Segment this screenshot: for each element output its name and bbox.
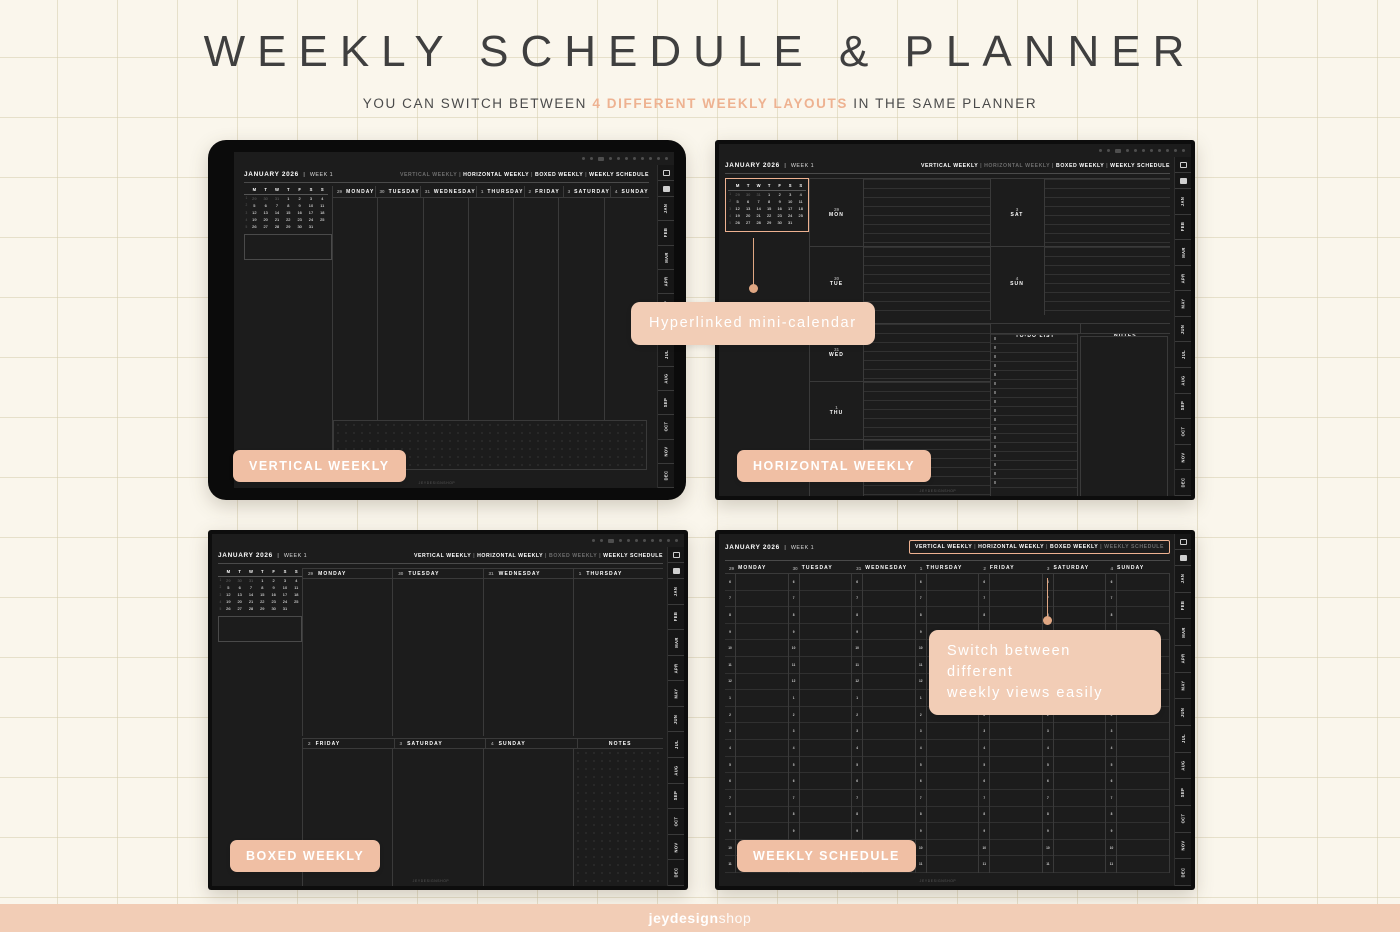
toolbar-dot-icon[interactable] xyxy=(619,539,622,542)
tab-boxed-weekly[interactable]: BOXED WEEKLY xyxy=(549,553,597,559)
time-slot-row[interactable] xyxy=(927,591,979,608)
rail-month-mar[interactable]: MAR xyxy=(1175,240,1191,266)
time-slot-row[interactable] xyxy=(863,657,915,674)
month-rail[interactable]: JAN FEB MAR APR MAY JUN JUL AUG SEP OCT … xyxy=(1174,534,1191,886)
tab-weekly-schedule[interactable]: WEEKLY SCHEDULE xyxy=(589,172,649,178)
rail-home-tab[interactable] xyxy=(1175,157,1191,173)
rail-month-jul[interactable]: JUL xyxy=(658,343,674,367)
layout-tabs[interactable]: VERTICAL WEEKLY | HORIZONTAL WEEKLY | BO… xyxy=(400,172,649,178)
toolbar-dot-icon[interactable] xyxy=(582,157,585,160)
toolbar-dot-icon[interactable] xyxy=(1182,149,1185,152)
rail-month-aug[interactable]: AUG xyxy=(658,367,674,391)
schedule-day-column[interactable]: 67891011121234567891011 xyxy=(1106,574,1170,873)
day-box[interactable] xyxy=(393,579,483,736)
tab-weekly-schedule[interactable]: WEEKLY SCHEDULE xyxy=(1110,163,1170,169)
toolbar-shape-icon[interactable] xyxy=(625,157,628,160)
mini-calendar[interactable]: MT WT FS S 1 2930 311 23 4 2 56 xyxy=(218,568,302,613)
time-slot-row[interactable] xyxy=(800,624,852,641)
time-slot-row[interactable] xyxy=(1054,773,1106,790)
toolbar-dot-icon[interactable] xyxy=(1166,149,1169,152)
rail-month-mar[interactable]: MAR xyxy=(668,630,684,656)
toolbar-dot-icon[interactable] xyxy=(633,157,636,160)
time-slot-row[interactable] xyxy=(927,773,979,790)
rail-month-jan[interactable]: JAN xyxy=(1175,189,1191,215)
rail-month-nov[interactable]: NOV xyxy=(658,440,674,464)
schedule-day-column[interactable]: 67891011121234567891011 xyxy=(852,574,916,873)
time-slot-row[interactable] xyxy=(863,624,915,641)
time-slot-row[interactable] xyxy=(1054,757,1106,774)
time-slot-row[interactable] xyxy=(863,773,915,790)
mini-calendar-week-row[interactable]: 2 56 78 910 11 xyxy=(244,202,328,209)
time-slot-row[interactable] xyxy=(800,657,852,674)
day-column-header[interactable]: 30 TUESDAY xyxy=(393,569,483,578)
rail-month-apr[interactable]: APR xyxy=(1175,266,1191,292)
mini-calendar-week-row[interactable]: 3 1213 1415 1617 18 xyxy=(728,205,806,212)
day-column-header[interactable]: 30 TUESDAY xyxy=(376,186,421,197)
schedule-write-area[interactable] xyxy=(736,574,788,873)
rail-month-jan[interactable]: JAN xyxy=(668,579,684,605)
time-slot-row[interactable] xyxy=(1054,823,1106,840)
time-slot-row[interactable] xyxy=(736,657,788,674)
time-slot-row[interactable] xyxy=(1117,807,1169,824)
time-slot-row[interactable] xyxy=(800,574,852,591)
time-slot-row[interactable] xyxy=(863,640,915,657)
time-slot-row[interactable] xyxy=(800,740,852,757)
time-slot-row[interactable] xyxy=(990,840,1042,857)
tab-horizontal-weekly[interactable]: HORIZONTAL WEEKLY xyxy=(463,172,529,178)
time-slot-row[interactable] xyxy=(863,723,915,740)
day-column-header[interactable]: 31 WEDNESDAY xyxy=(484,569,574,578)
schedule-day-column[interactable]: 67891011121234567891011 xyxy=(979,574,1043,873)
day-column-header[interactable]: 29 MONDAY xyxy=(725,563,789,573)
day-column-header[interactable]: 2 FRIDAY xyxy=(525,186,564,197)
day-cell[interactable] xyxy=(514,198,559,420)
time-slot-row[interactable] xyxy=(736,807,788,824)
rail-month-jun[interactable]: JUN xyxy=(1175,699,1191,726)
rail-notes-tab[interactable] xyxy=(668,563,684,579)
todo-checkbox[interactable] xyxy=(994,382,997,385)
rail-month-dec[interactable]: DEC xyxy=(658,464,674,488)
day-column-header[interactable]: 4 SUNDAY xyxy=(1106,563,1170,573)
toolbar-dot-icon[interactable] xyxy=(643,539,646,542)
rail-month-jun[interactable]: JUN xyxy=(1175,317,1191,343)
time-slot-row[interactable] xyxy=(927,840,979,857)
day-column-header[interactable]: 3 SATURDAY xyxy=(395,739,487,748)
todo-checkbox[interactable] xyxy=(994,445,997,448)
day-write-area[interactable] xyxy=(1045,247,1171,315)
time-slot-row[interactable] xyxy=(1117,607,1169,624)
rail-home-tab[interactable] xyxy=(668,547,684,563)
time-slot-row[interactable] xyxy=(800,690,852,707)
rail-month-mar[interactable]: MAR xyxy=(1175,619,1191,646)
tab-boxed-weekly[interactable]: BOXED WEEKLY xyxy=(1056,163,1104,169)
time-slot-row[interactable] xyxy=(1054,856,1106,873)
toolbar-dot-icon[interactable] xyxy=(590,157,593,160)
tab-vertical-weekly[interactable]: VERTICAL WEEKLY xyxy=(921,163,978,169)
todo-checkbox[interactable] xyxy=(994,427,997,430)
day-column-header[interactable]: 29 MONDAY xyxy=(303,569,393,578)
day-row[interactable]: 1 THU xyxy=(810,382,990,440)
time-slot-row[interactable] xyxy=(1117,740,1169,757)
time-slot-row[interactable] xyxy=(927,807,979,824)
time-slot-row[interactable] xyxy=(990,823,1042,840)
time-slot-row[interactable] xyxy=(1054,723,1106,740)
day-write-area[interactable] xyxy=(864,247,990,315)
time-slot-row[interactable] xyxy=(863,823,915,840)
mini-calendar[interactable]: MT WT FS S 1 2930 311 23 4 2 56 xyxy=(244,186,328,231)
time-slot-row[interactable] xyxy=(800,707,852,724)
tab-boxed-weekly[interactable]: BOXED WEEKLY xyxy=(535,172,583,178)
todo-checkbox[interactable] xyxy=(994,391,997,394)
schedule-day-column[interactable]: 67891011121234567891011 xyxy=(789,574,853,873)
time-slot-row[interactable] xyxy=(863,807,915,824)
time-slot-row[interactable] xyxy=(990,574,1042,591)
time-slot-row[interactable] xyxy=(736,624,788,641)
time-slot-row[interactable] xyxy=(990,856,1042,873)
toolbar-dot-icon[interactable] xyxy=(592,539,595,542)
time-slot-row[interactable] xyxy=(800,723,852,740)
rail-month-feb[interactable]: FEB xyxy=(658,221,674,245)
time-slot-row[interactable] xyxy=(863,574,915,591)
time-slot-row[interactable] xyxy=(863,790,915,807)
time-slot-row[interactable] xyxy=(990,591,1042,608)
time-slot-row[interactable] xyxy=(863,690,915,707)
time-slot-row[interactable] xyxy=(800,674,852,691)
time-slot-row[interactable] xyxy=(800,773,852,790)
time-slot-row[interactable] xyxy=(1117,773,1169,790)
tab-vertical-weekly[interactable]: VERTICAL WEEKLY xyxy=(414,553,471,559)
time-slot-row[interactable] xyxy=(927,823,979,840)
tab-weekly-schedule[interactable]: WEEKLY SCHEDULE xyxy=(1104,544,1164,550)
rail-month-feb[interactable]: FEB xyxy=(1175,593,1191,620)
day-column-header[interactable]: 2 FRIDAY xyxy=(303,739,395,748)
rail-month-apr[interactable]: APR xyxy=(658,270,674,294)
rail-home-tab[interactable] xyxy=(658,165,674,181)
day-column-header[interactable]: 4 SUNDAY xyxy=(486,739,578,748)
schedule-write-area[interactable] xyxy=(863,574,915,873)
day-column-header[interactable]: 31 WEDNESDAY xyxy=(852,563,916,573)
day-write-area[interactable] xyxy=(864,179,990,246)
rail-month-jul[interactable]: JUL xyxy=(1175,726,1191,753)
schedule-day-column[interactable]: 67891011121234567891011 xyxy=(1043,574,1107,873)
todo-checkbox[interactable] xyxy=(994,472,997,475)
mini-notes-box[interactable] xyxy=(218,616,302,642)
toolbar-dot-icon[interactable] xyxy=(1150,149,1153,152)
time-slot-row[interactable] xyxy=(927,574,979,591)
rail-month-jul[interactable]: JUL xyxy=(668,732,684,758)
time-slot-row[interactable] xyxy=(800,823,852,840)
time-slot-row[interactable] xyxy=(863,674,915,691)
toolbar-shape-icon[interactable] xyxy=(1134,149,1137,152)
todo-checkbox[interactable] xyxy=(994,436,997,439)
rail-month-dec[interactable]: DEC xyxy=(1175,859,1191,886)
toolbar-shape-icon[interactable] xyxy=(635,539,638,542)
time-slot-row[interactable] xyxy=(863,757,915,774)
app-toolbar[interactable] xyxy=(719,144,1191,157)
day-cell[interactable] xyxy=(333,198,378,420)
layout-tabs-highlighted[interactable]: VERTICAL WEEKLY | HORIZONTAL WEEKLY | BO… xyxy=(909,540,1170,554)
day-write-area[interactable] xyxy=(1045,179,1171,246)
schedule-write-area[interactable] xyxy=(800,574,852,873)
mini-calendar-week-row[interactable]: 3 1213 1415 1617 18 xyxy=(218,591,302,598)
time-slot-row[interactable] xyxy=(1054,790,1106,807)
toolbar-page-icon[interactable] xyxy=(1115,149,1121,153)
todo-checkbox[interactable] xyxy=(994,400,997,403)
rail-notes-tab[interactable] xyxy=(1175,550,1191,566)
time-slot-row[interactable] xyxy=(927,607,979,624)
todo-checkbox[interactable] xyxy=(994,364,997,367)
rail-month-oct[interactable]: OCT xyxy=(658,415,674,439)
toolbar-shape-icon[interactable] xyxy=(1142,149,1145,152)
toolbar-dot-icon[interactable] xyxy=(649,157,652,160)
rail-month-may[interactable]: MAY xyxy=(1175,673,1191,700)
day-row[interactable]: 29 MON xyxy=(810,179,990,247)
toolbar-dot-icon[interactable] xyxy=(667,539,670,542)
toolbar-dot-icon[interactable] xyxy=(665,157,668,160)
time-slot-row[interactable] xyxy=(1117,723,1169,740)
boxed-top-cells[interactable] xyxy=(303,579,663,736)
rail-notes-tab[interactable] xyxy=(658,181,674,197)
app-toolbar[interactable] xyxy=(212,534,684,547)
time-slot-row[interactable] xyxy=(800,640,852,657)
day-column-header[interactable]: 1 THURSDAY xyxy=(574,569,663,578)
time-slot-row[interactable] xyxy=(1117,856,1169,873)
rail-month-sep[interactable]: SEP xyxy=(668,784,684,810)
toolbar-page-icon[interactable] xyxy=(608,539,614,543)
time-slot-row[interactable] xyxy=(800,757,852,774)
time-slot-row[interactable] xyxy=(990,773,1042,790)
time-slot-row[interactable] xyxy=(1117,574,1169,591)
layout-tabs[interactable]: VERTICAL WEEKLY | HORIZONTAL WEEKLY | BO… xyxy=(414,553,663,559)
time-slot-row[interactable] xyxy=(990,757,1042,774)
schedule-grid[interactable]: 6789101112123456789101167891011121234567… xyxy=(725,573,1170,873)
rail-month-oct[interactable]: OCT xyxy=(1175,806,1191,833)
rail-month-may[interactable]: MAY xyxy=(1175,291,1191,317)
day-column-header[interactable]: 2 FRIDAY xyxy=(979,563,1043,573)
mini-calendar[interactable]: MT WT FS S 1 2930 311 23 4 2 56 xyxy=(725,178,809,232)
time-slot-row[interactable] xyxy=(736,723,788,740)
rail-month-jun[interactable]: JUN xyxy=(668,707,684,733)
tab-boxed-weekly[interactable]: BOXED WEEKLY xyxy=(1050,544,1098,550)
toolbar-dot-icon[interactable] xyxy=(651,539,654,542)
day-cell[interactable] xyxy=(559,198,604,420)
rail-month-oct[interactable]: OCT xyxy=(668,809,684,835)
time-slot-row[interactable] xyxy=(863,740,915,757)
schedule-day-column[interactable]: 67891011121234567891011 xyxy=(916,574,980,873)
time-slot-row[interactable] xyxy=(1054,591,1106,608)
time-slot-row[interactable] xyxy=(736,707,788,724)
day-column-header[interactable]: 4 SUNDAY xyxy=(611,186,649,197)
mini-calendar-week-row[interactable]: 2 56 78 910 11 xyxy=(218,584,302,591)
mini-calendar-week-row[interactable]: 1 2930 311 23 4 xyxy=(218,576,302,584)
time-slot-row[interactable] xyxy=(1117,823,1169,840)
time-slot-row[interactable] xyxy=(1117,790,1169,807)
day-column-header[interactable]: 30 TUESDAY xyxy=(789,563,853,573)
toolbar-dot-icon[interactable] xyxy=(600,539,603,542)
time-slot-row[interactable] xyxy=(863,707,915,724)
notes-area[interactable] xyxy=(1080,336,1168,496)
day-cell[interactable] xyxy=(378,198,423,420)
day-cell[interactable] xyxy=(424,198,469,420)
time-slot-row[interactable] xyxy=(1054,840,1106,857)
tab-vertical-weekly[interactable]: VERTICAL WEEKLY xyxy=(400,172,457,178)
mini-calendar-week-row[interactable]: 4 1920 2122 2324 25 xyxy=(728,212,806,219)
tab-horizontal-weekly[interactable]: HORIZONTAL WEEKLY xyxy=(978,544,1044,550)
day-box[interactable] xyxy=(303,579,393,736)
toolbar-shape-icon[interactable] xyxy=(627,539,630,542)
mini-calendar-week-row[interactable]: 5 2627 2829 3031 xyxy=(218,605,302,612)
time-slot-row[interactable] xyxy=(736,591,788,608)
rail-month-aug[interactable]: AUG xyxy=(668,758,684,784)
todo-list-rows[interactable] xyxy=(991,334,1078,496)
rail-month-feb[interactable]: FEB xyxy=(1175,215,1191,241)
time-slot-row[interactable] xyxy=(863,607,915,624)
day-column-header[interactable]: 3 SATURDAY xyxy=(1043,563,1107,573)
todo-checkbox[interactable] xyxy=(994,454,997,457)
time-slot-row[interactable] xyxy=(990,740,1042,757)
tab-horizontal-weekly[interactable]: HORIZONTAL WEEKLY xyxy=(984,163,1050,169)
time-slot-row[interactable] xyxy=(736,574,788,591)
time-slot-row[interactable] xyxy=(736,790,788,807)
time-slot-row[interactable] xyxy=(736,607,788,624)
todo-checkbox[interactable] xyxy=(994,418,997,421)
mini-calendar-week-row[interactable]: 5 2627 2829 3031 xyxy=(728,219,806,226)
time-slot-row[interactable] xyxy=(736,773,788,790)
notes-dot-grid[interactable] xyxy=(574,749,663,886)
time-slot-row[interactable] xyxy=(927,757,979,774)
rail-month-jan[interactable]: JAN xyxy=(1175,566,1191,593)
time-slot-row[interactable] xyxy=(1054,574,1106,591)
day-write-area[interactable] xyxy=(864,382,990,439)
mini-calendar-week-row[interactable]: 2 56 78 910 11 xyxy=(728,198,806,205)
toolbar-dot-icon[interactable] xyxy=(609,157,612,160)
rail-month-sep[interactable]: SEP xyxy=(1175,394,1191,420)
app-toolbar[interactable] xyxy=(234,152,674,165)
time-slot-row[interactable] xyxy=(1054,807,1106,824)
time-slot-row[interactable] xyxy=(927,740,979,757)
day-write-area[interactable] xyxy=(864,324,990,381)
time-slot-row[interactable] xyxy=(927,856,979,873)
mini-calendar-week-row[interactable]: 4 1920 2122 2324 25 xyxy=(218,598,302,605)
todo-checkbox[interactable] xyxy=(994,481,997,484)
toolbar-dot-icon[interactable] xyxy=(657,157,660,160)
time-slot-row[interactable] xyxy=(1117,840,1169,857)
time-slot-row[interactable] xyxy=(863,591,915,608)
rail-month-nov[interactable]: NOV xyxy=(1175,833,1191,860)
day-box[interactable] xyxy=(393,749,483,886)
time-slot-row[interactable] xyxy=(736,823,788,840)
day-cell[interactable] xyxy=(469,198,514,420)
toolbar-dot-icon[interactable] xyxy=(675,539,678,542)
time-slot-row[interactable] xyxy=(736,690,788,707)
rail-month-nov[interactable]: NOV xyxy=(1175,445,1191,471)
rail-month-oct[interactable]: OCT xyxy=(1175,419,1191,445)
toolbar-dot-icon[interactable] xyxy=(1107,149,1110,152)
time-slot-row[interactable] xyxy=(736,674,788,691)
time-slot-row[interactable] xyxy=(800,807,852,824)
day-column-header[interactable]: 31 WEDNESDAY xyxy=(421,186,477,197)
toolbar-dot-icon[interactable] xyxy=(1158,149,1161,152)
todo-checkbox[interactable] xyxy=(994,463,997,466)
time-slot-row[interactable] xyxy=(990,807,1042,824)
time-slot-row[interactable] xyxy=(990,723,1042,740)
mini-calendar-week-row[interactable]: 3 1213 1415 1617 18 xyxy=(244,209,328,216)
toolbar-dot-icon[interactable] xyxy=(1174,149,1177,152)
rail-month-dec[interactable]: DEC xyxy=(1175,470,1191,496)
todo-checkbox[interactable] xyxy=(994,373,997,376)
day-row[interactable]: 4 SUN xyxy=(991,247,1171,315)
tab-horizontal-weekly[interactable]: HORIZONTAL WEEKLY xyxy=(477,553,543,559)
time-slot-row[interactable] xyxy=(736,640,788,657)
toolbar-shape-icon[interactable] xyxy=(617,157,620,160)
rail-month-jan[interactable]: JAN xyxy=(658,197,674,221)
toolbar-page-icon[interactable] xyxy=(598,157,604,161)
toolbar-dot-icon[interactable] xyxy=(1099,149,1102,152)
mini-calendar-week-row[interactable]: 1 2930 311 23 4 xyxy=(244,194,328,202)
day-box[interactable] xyxy=(574,579,663,736)
time-slot-row[interactable] xyxy=(800,790,852,807)
time-slot-row[interactable] xyxy=(990,790,1042,807)
mini-calendar-week-row[interactable]: 5 2627 2829 3031 xyxy=(244,223,328,230)
time-slot-row[interactable] xyxy=(800,591,852,608)
month-rail[interactable]: JAN FEB MAR APR MAY JUN JUL AUG SEP OCT … xyxy=(1174,157,1191,496)
time-slot-row[interactable] xyxy=(1054,607,1106,624)
time-slot-row[interactable] xyxy=(736,757,788,774)
rail-month-feb[interactable]: FEB xyxy=(668,605,684,631)
rail-month-nov[interactable]: NOV xyxy=(668,835,684,861)
toolbar-dot-icon[interactable] xyxy=(1126,149,1129,152)
mini-calendar-week-row[interactable]: 1 2930 311 23 4 xyxy=(728,190,806,198)
todo-checkbox[interactable] xyxy=(994,409,997,412)
day-row[interactable]: 3 SAT xyxy=(991,179,1171,247)
schedule-write-area[interactable] xyxy=(990,574,1042,873)
rail-month-may[interactable]: MAY xyxy=(668,681,684,707)
rail-notes-tab[interactable] xyxy=(1175,173,1191,189)
day-box[interactable] xyxy=(484,749,574,886)
week-grid[interactable] xyxy=(333,197,649,420)
schedule-write-area[interactable] xyxy=(927,574,979,873)
todo-checkbox[interactable] xyxy=(994,346,997,349)
time-slot-row[interactable] xyxy=(927,790,979,807)
rail-month-apr[interactable]: APR xyxy=(1175,646,1191,673)
schedule-write-area[interactable] xyxy=(1117,574,1169,873)
rail-month-apr[interactable]: APR xyxy=(668,656,684,682)
time-slot-row[interactable] xyxy=(927,723,979,740)
rail-month-mar[interactable]: MAR xyxy=(658,246,674,270)
day-column-header[interactable]: 29 MONDAY xyxy=(333,186,376,197)
mini-calendar-week-row[interactable]: 4 1920 2122 2324 25 xyxy=(244,216,328,223)
time-slot-row[interactable] xyxy=(736,740,788,757)
schedule-write-area[interactable] xyxy=(1054,574,1106,873)
month-rail[interactable]: JAN FEB MAR APR MAY JUN JUL AUG SEP OCT … xyxy=(667,547,684,886)
tab-vertical-weekly[interactable]: VERTICAL WEEKLY xyxy=(915,544,972,550)
toolbar-dot-icon[interactable] xyxy=(659,539,662,542)
rail-month-sep[interactable]: SEP xyxy=(658,391,674,415)
time-slot-row[interactable] xyxy=(1117,757,1169,774)
day-column-header[interactable]: 3 SATURDAY xyxy=(564,186,611,197)
rail-month-sep[interactable]: SEP xyxy=(1175,779,1191,806)
day-box[interactable] xyxy=(484,579,574,736)
time-slot-row[interactable] xyxy=(800,607,852,624)
day-column-header[interactable]: 1 THURSDAY xyxy=(477,186,525,197)
mini-notes-box[interactable] xyxy=(244,234,332,260)
day-column-header[interactable]: 1 THURSDAY xyxy=(916,563,980,573)
rail-month-aug[interactable]: AUG xyxy=(1175,368,1191,394)
tab-weekly-schedule[interactable]: WEEKLY SCHEDULE xyxy=(603,553,663,559)
layout-tabs[interactable]: VERTICAL WEEKLY | HORIZONTAL WEEKLY | BO… xyxy=(921,163,1170,169)
rail-month-dec[interactable]: DEC xyxy=(668,860,684,886)
schedule-day-column[interactable]: 67891011121234567891011 xyxy=(725,574,789,873)
